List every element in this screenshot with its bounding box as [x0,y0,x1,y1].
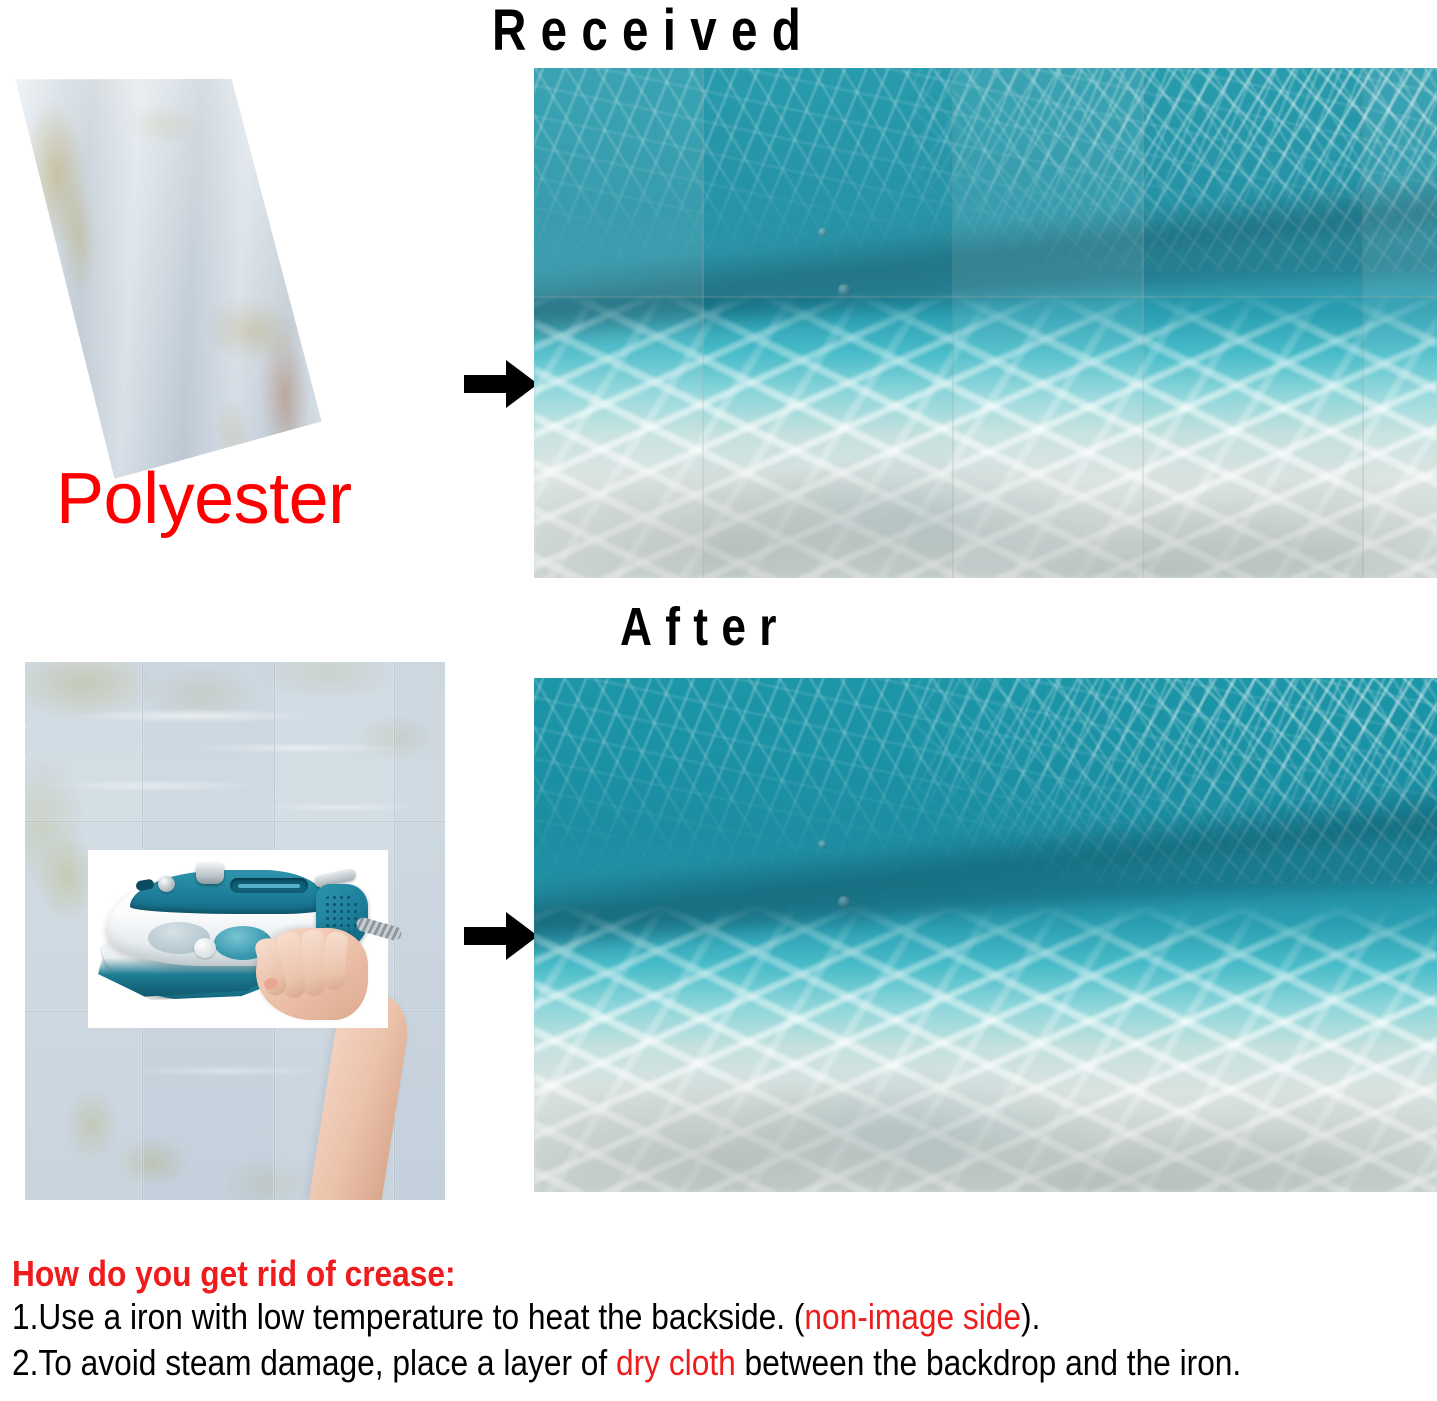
instruction-line-1: 1.Use a iron with low temperature to hea… [12,1294,1266,1340]
folded-sheet-graphic [3,71,325,486]
instruction-2-highlight: dry cloth [616,1342,736,1383]
iron-handle-slot-inner [238,884,300,888]
bubble-icon [818,840,827,849]
seabed-sand-texture [534,986,1437,1192]
bubble-icon [838,896,850,908]
iron-temperature-dial [194,938,216,958]
folded-fabric-image [0,70,430,490]
received-backdrop-image [534,68,1437,578]
steam-iron-graphic [88,850,388,1028]
bubble-icon [818,228,827,237]
polyester-label: Polyester [56,463,352,535]
instruction-1-highlight: non-image side [804,1296,1021,1337]
arrow-right-icon [462,908,540,964]
instruction-2-pre: 2.To avoid steam damage, place a layer o… [12,1342,616,1383]
seabed-sand-texture [534,374,1437,578]
iron-steam-button [158,876,175,892]
instruction-line-2: 2.To avoid steam damage, place a layer o… [12,1340,1266,1386]
after-backdrop-image [534,678,1437,1192]
received-heading: Received [492,2,815,60]
arrow-right-icon [462,356,540,412]
fabric-backside-image [25,662,445,1200]
instruction-1-pre: 1.Use a iron with low temperature to hea… [12,1296,804,1337]
instruction-1-post: ). [1021,1296,1040,1337]
after-heading: After [620,600,790,654]
instruction-2-post: between the backdrop and the iron. [736,1342,1241,1383]
instructions-title: How do you get rid of crease: [12,1254,1266,1294]
iron-steam-selector [196,862,224,884]
instructions-block: How do you get rid of crease: 1.Use a ir… [12,1254,1437,1386]
bubble-icon [838,284,850,296]
iron-photo-card [88,850,388,1028]
